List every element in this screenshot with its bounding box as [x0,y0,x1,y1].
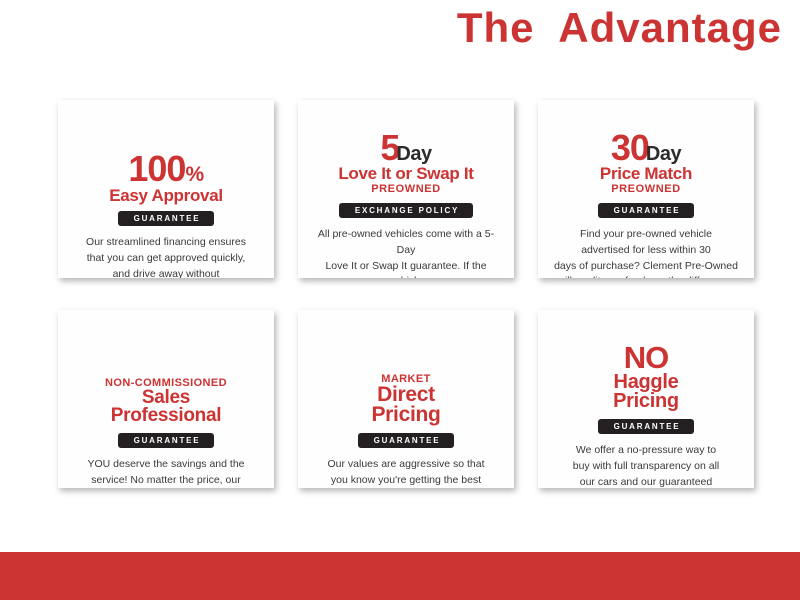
advantage-card-market-direct-pricing[interactable]: MARKET Direct Pricing GUARANTEE Our valu… [298,310,514,488]
page-title: The Advantage [457,4,782,52]
preowned-label: PREOWNED [611,183,681,196]
card-headline-sub: Love It or Swap It [338,165,473,182]
advantage-card-price-match[interactable]: 30Day Price Match PREOWNED GUARANTEE Fin… [538,100,754,278]
card-headline: MARKET Direct Pricing [310,318,502,426]
card-headline-sub: Direct Pricing [371,385,440,426]
advantage-card-easy-approval[interactable]: 100% Easy Approval GUARANTEE Our streaml… [58,100,274,278]
advantage-card-love-it-or-swap-it[interactable]: 5Day Love It or Swap It PREOWNED EXCHANG… [298,100,514,278]
advantage-card-grid: 100% Easy Approval GUARANTEE Our streaml… [58,100,744,488]
guarantee-badge: GUARANTEE [118,433,215,448]
day-label: Day [646,143,681,165]
card-headline: 5Day Love It or Swap It PREOWNED [310,108,502,196]
exchange-policy-badge: EXCHANGE POLICY [339,203,473,218]
card-headline-sub: Haggle Pricing [613,373,679,412]
advantage-card-no-haggle-pricing[interactable]: NO Haggle Pricing GUARANTEE We offer a n… [538,310,754,488]
percent-glyph: % [185,163,203,186]
preowned-label: PREOWNED [371,183,441,196]
advantage-card-sales-professional[interactable]: NON-COMMISSIONED Sales Professional GUAR… [58,310,274,488]
card-headline: NON-COMMISSIONED Sales Professional [70,318,262,426]
guarantee-badge: GUARANTEE [118,211,215,226]
guarantee-badge: GUARANTEE [598,419,695,434]
card-headline: NO Haggle Pricing [550,318,742,412]
card-body-text: We offer a no-pressure way to buy with f… [573,443,720,488]
card-body-text: Find your pre-owned vehicle advertised f… [554,227,738,278]
footer-accent-bar [0,552,800,600]
day-label: Day [396,143,431,165]
card-headline-sub: Sales Professional [111,389,221,426]
card-headline-sub: Price Match [600,165,692,182]
card-headline-number: 100% [128,152,203,186]
guarantee-badge: GUARANTEE [358,433,455,448]
card-headline: 30Day Price Match PREOWNED [550,108,742,196]
card-headline: 100% Easy Approval [70,108,262,204]
card-headline-sub: Easy Approval [109,187,223,204]
card-headline-number: NO [624,343,669,372]
card-body-text: All pre-owned vehicles come with a 5-Day… [310,227,502,278]
card-body-text: Our streamlined financing ensures that y… [86,235,246,278]
card-body-text: YOU deserve the savings and the service!… [87,457,244,488]
card-headline-number: 5Day [380,131,431,165]
guarantee-badge: GUARANTEE [598,203,695,218]
card-body-text: Our values are aggressive so that you kn… [328,457,485,488]
card-headline-number: 30Day [611,131,681,165]
